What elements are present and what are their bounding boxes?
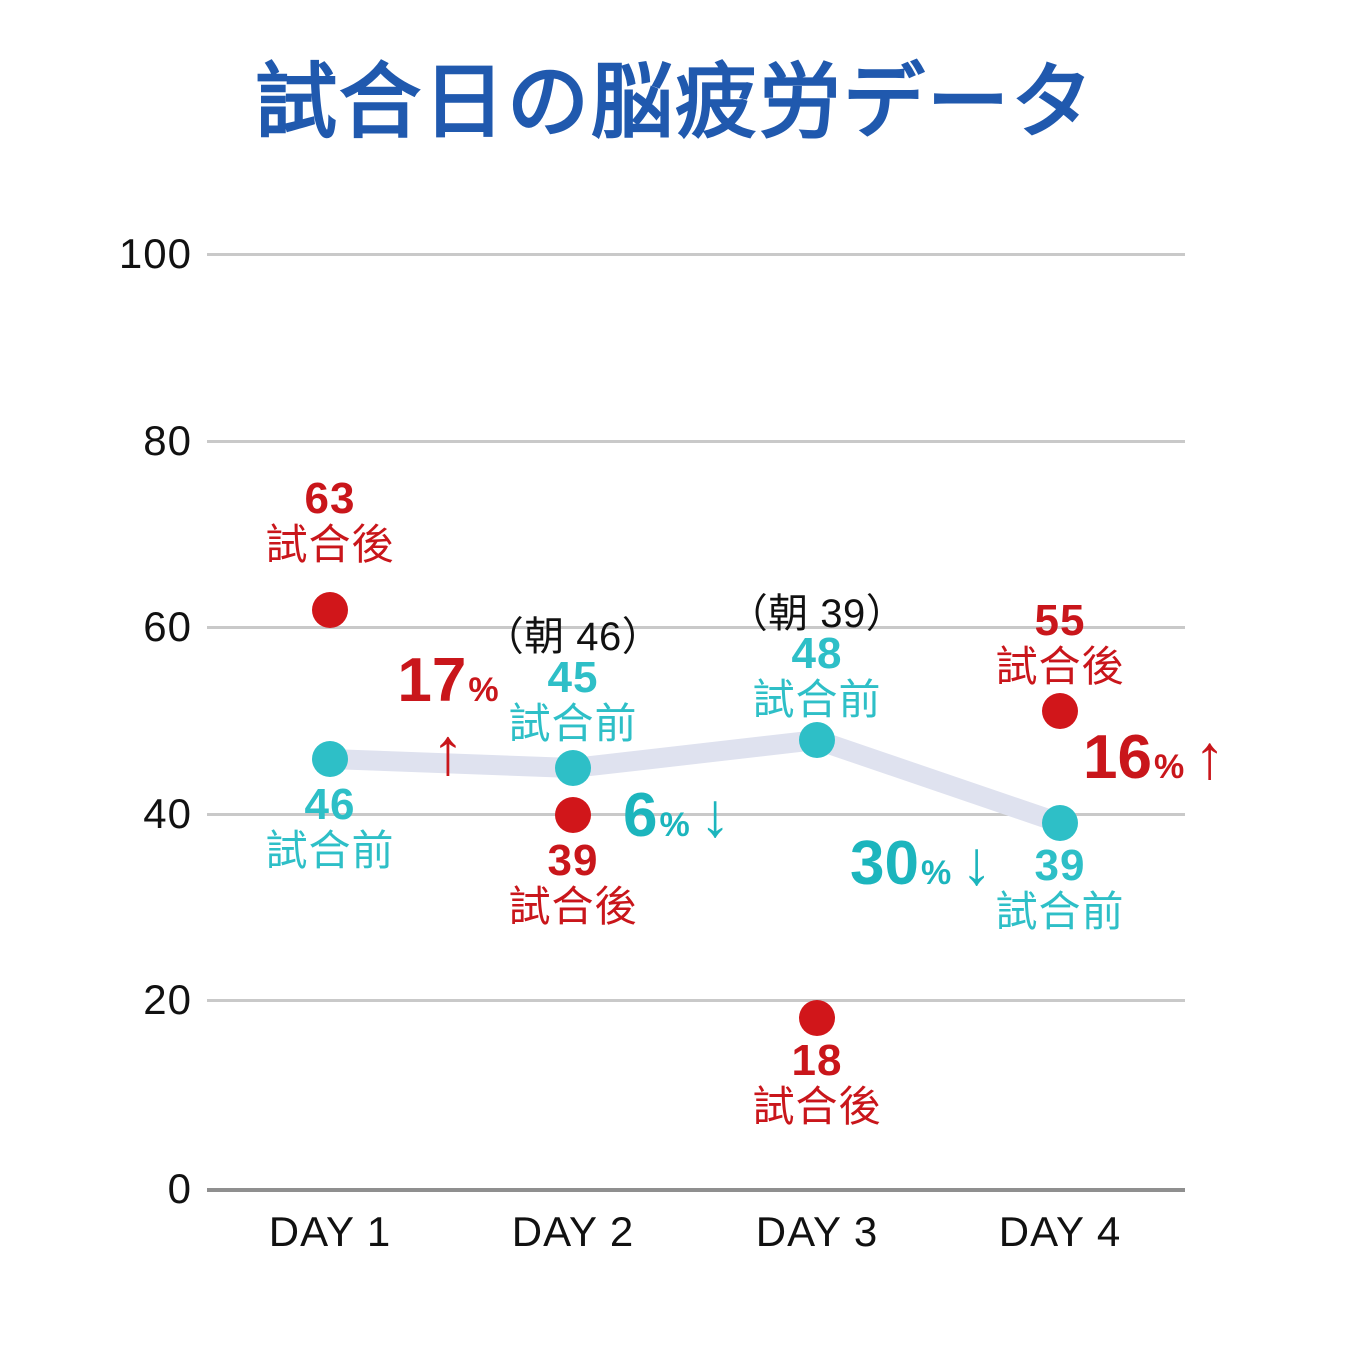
label-post-day-2: 39 試合後	[423, 838, 723, 929]
plot-area: 100 80 60 40 20 0 DAY 1 DAY 2 DAY 3 DAY …	[0, 0, 1350, 1350]
arrow-down-icon-day-2: ↓	[700, 785, 731, 847]
data-point-post-day-3[interactable]	[799, 1000, 835, 1036]
data-point-post-day-4[interactable]	[1042, 693, 1078, 729]
delta-day-4-value: 16	[1083, 723, 1152, 792]
label-post-day-4-caption: 試合後	[910, 645, 1210, 690]
delta-day-4: 16%↑	[1083, 727, 1225, 789]
data-point-pre-day-3[interactable]	[799, 722, 835, 758]
data-point-pre-day-1[interactable]	[312, 741, 348, 777]
label-post-day-1: 63 試合後	[180, 476, 480, 567]
delta-day-4-percent-sign: %	[1154, 748, 1184, 786]
y-axis-tick-60: 60	[72, 603, 192, 651]
label-pre-day-4-value: 39	[910, 843, 1210, 890]
data-point-pre-day-2[interactable]	[555, 750, 591, 786]
chart-canvas: 試合日の脳疲労データ 100 80 60 40 20 0 DAY 1 DAY 2…	[0, 0, 1350, 1350]
y-axis-tick-40: 40	[72, 790, 192, 838]
y-axis-tick-0: 0	[72, 1165, 192, 1213]
label-post-day-3-caption: 試合後	[667, 1085, 967, 1130]
gridline-100	[207, 253, 1185, 256]
label-pre-day-4-caption: 試合前	[910, 890, 1210, 935]
delta-day-2-value: 6	[623, 781, 657, 850]
gridline-0-baseline	[207, 1188, 1185, 1192]
delta-day-2-percent-sign: %	[659, 806, 689, 844]
label-post-day-4: 55 試合後	[910, 598, 1210, 689]
arrow-up-icon-day-4: ↑	[1194, 727, 1225, 789]
label-pre-day-1-value: 46	[180, 782, 480, 829]
x-axis-tick-day-4: DAY 4	[930, 1208, 1190, 1256]
delta-day-3-value: 30	[850, 829, 919, 898]
label-post-day-1-caption: 試合後	[180, 523, 480, 568]
label-post-day-4-value: 55	[910, 598, 1210, 645]
delta-day-2: 6%↓	[623, 785, 731, 847]
label-post-day-2-caption: 試合後	[423, 885, 723, 930]
y-axis-tick-80: 80	[72, 417, 192, 465]
gridline-80	[207, 440, 1185, 443]
label-post-day-3-value: 18	[667, 1038, 967, 1085]
label-pre-day-4: 39 試合前	[910, 843, 1210, 934]
label-post-day-3: 18 試合後	[667, 1038, 967, 1129]
x-axis-tick-day-2: DAY 2	[443, 1208, 703, 1256]
x-axis-tick-day-1: DAY 1	[200, 1208, 460, 1256]
y-axis-tick-100: 100	[72, 230, 192, 278]
y-axis-tick-20: 20	[72, 976, 192, 1024]
label-post-day-1-value: 63	[180, 476, 480, 523]
gridline-20	[207, 999, 1185, 1002]
x-axis-tick-day-3: DAY 3	[687, 1208, 947, 1256]
data-point-post-day-1[interactable]	[312, 592, 348, 628]
data-point-pre-day-4[interactable]	[1042, 805, 1078, 841]
